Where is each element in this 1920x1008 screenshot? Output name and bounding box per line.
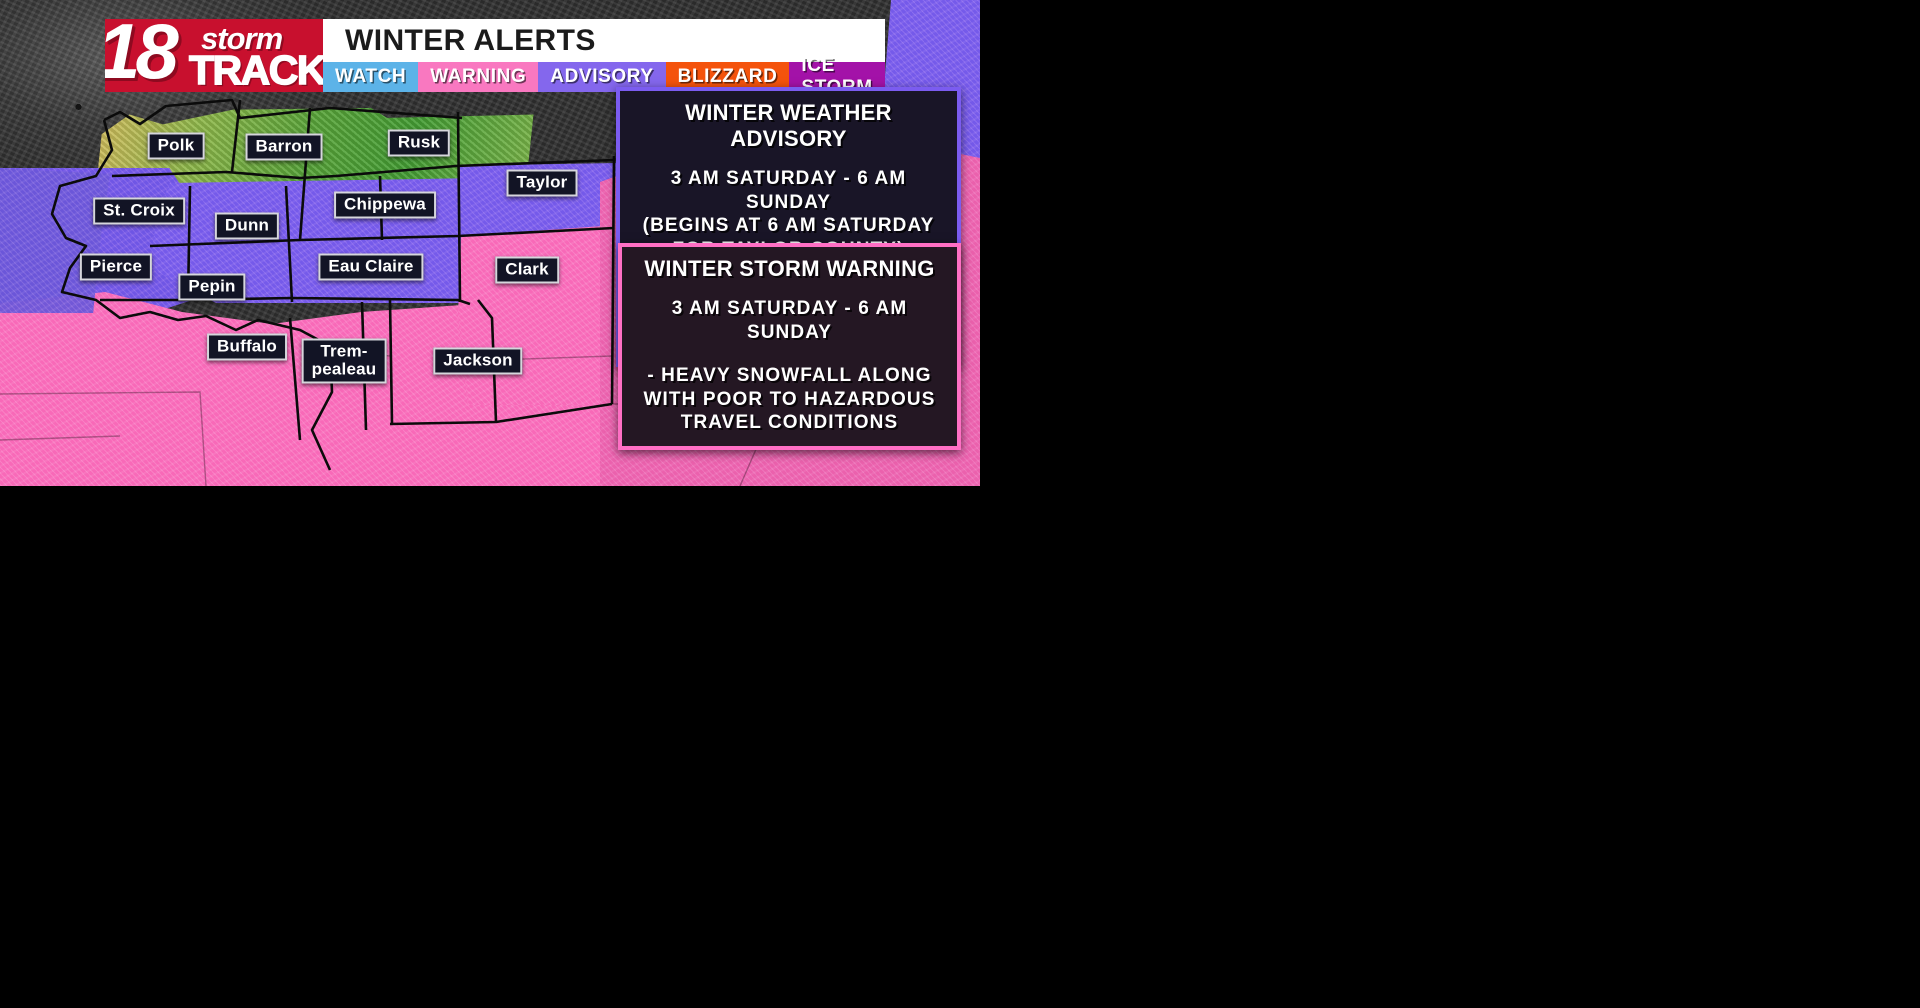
county-label-dunn: Dunn: [215, 212, 279, 239]
county-label-buffalo: Buffalo: [207, 333, 287, 360]
alert-panel-winter-storm-warning: WINTER STORM WARNING 3 AM SATURDAY - 6 A…: [618, 243, 961, 450]
logo-channel-number: 18: [105, 19, 174, 92]
county-label-st-croix: St. Croix: [93, 197, 185, 224]
advisory-heading: WINTER WEATHER ADVISORY: [620, 91, 957, 161]
county-label-barron: Barron: [246, 133, 323, 160]
warning-timing: 3 AM SATURDAY - 6 AM SUNDAY: [622, 291, 957, 354]
county-label-pierce: Pierce: [80, 253, 152, 280]
county-label-jackson: Jackson: [433, 347, 522, 374]
warning-heading: WINTER STORM WARNING: [622, 247, 957, 291]
logo-track-word: TRACK: [189, 47, 323, 92]
county-label-trempealeau: Trem- pealeau: [302, 338, 387, 383]
warning-timing-line-1: 3 AM SATURDAY - 6 AM SUNDAY: [672, 298, 908, 343]
page-title: WINTER ALERTS: [345, 24, 596, 58]
legend-item-watch[interactable]: WATCH: [323, 62, 418, 92]
advisory-timing-line-1: 3 AM SATURDAY - 6 AM SUNDAY: [671, 168, 907, 213]
station-logo: 18 storm TRACK: [105, 19, 323, 92]
county-label-rusk: Rusk: [388, 129, 450, 156]
county-label-pepin: Pepin: [178, 273, 245, 300]
warning-zone-clark: [458, 225, 618, 405]
county-label-clark: Clark: [495, 256, 559, 283]
right-letterbox: [980, 0, 1920, 1008]
broadcast-stage: Polk Barron Rusk Taylor St. Croix Dunn C…: [0, 0, 1920, 1008]
graphic-header: 18 storm TRACK WINTER ALERTS WATCH WARNI…: [105, 19, 885, 92]
county-label-chippewa: Chippewa: [334, 191, 436, 218]
warning-impact: - HEAVY SNOWFALL ALONG WITH POOR TO HAZA…: [622, 354, 957, 446]
weather-graphic: Polk Barron Rusk Taylor St. Croix Dunn C…: [0, 0, 980, 486]
county-label-eau-claire: Eau Claire: [318, 253, 423, 280]
bottom-letterbox: [0, 486, 980, 1008]
county-label-taylor: Taylor: [507, 169, 578, 196]
legend-item-warning[interactable]: WARNING: [418, 62, 538, 92]
minnesota-shade: [0, 168, 110, 313]
county-label-polk: Polk: [148, 132, 205, 159]
